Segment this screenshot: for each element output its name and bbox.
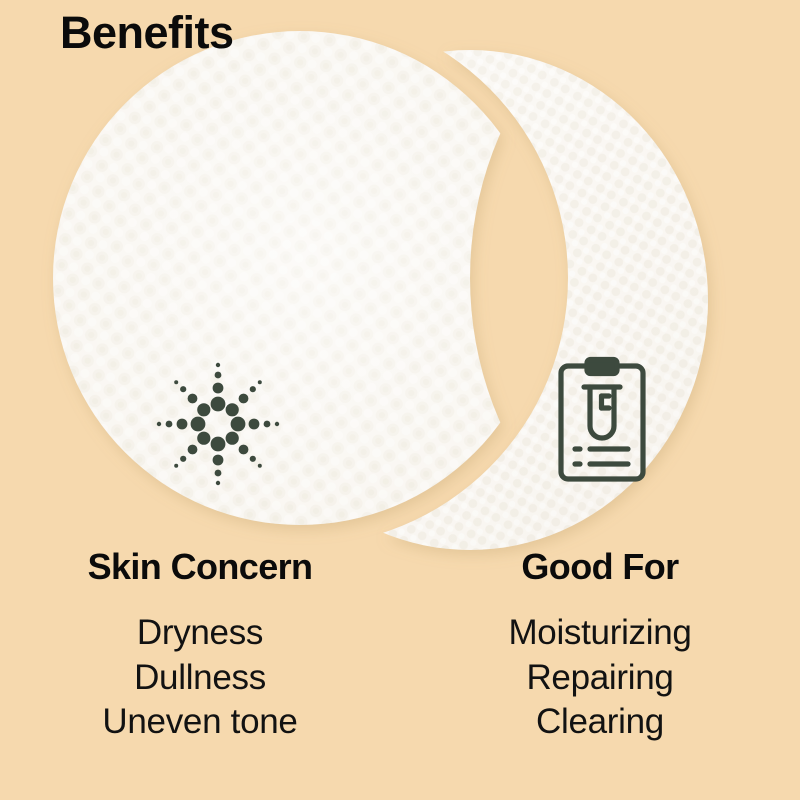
sparkle-icon xyxy=(155,358,285,490)
benefit-columns: Skin Concern Dryness Dullness Uneven ton… xyxy=(0,548,800,800)
page-title: Benefits xyxy=(60,8,234,58)
benefits-infographic: Benefits xyxy=(0,0,800,800)
list-item: Dullness xyxy=(102,656,297,701)
list-item: Moisturizing xyxy=(508,611,691,656)
clipboard-test-tube-icon xyxy=(554,356,650,486)
column-good-for: Good For Moisturizing Repairing Clearing xyxy=(400,548,800,800)
column-list-skin-concern: Dryness Dullness Uneven tone xyxy=(102,611,297,745)
list-item: Uneven tone xyxy=(102,700,297,745)
column-list-good-for: Moisturizing Repairing Clearing xyxy=(508,611,691,745)
column-heading-skin-concern: Skin Concern xyxy=(88,548,313,587)
column-skin-concern: Skin Concern Dryness Dullness Uneven ton… xyxy=(0,548,400,800)
list-item: Dryness xyxy=(102,611,297,656)
list-item: Repairing xyxy=(508,656,691,701)
list-item: Clearing xyxy=(508,700,691,745)
column-heading-good-for: Good For xyxy=(521,548,678,587)
